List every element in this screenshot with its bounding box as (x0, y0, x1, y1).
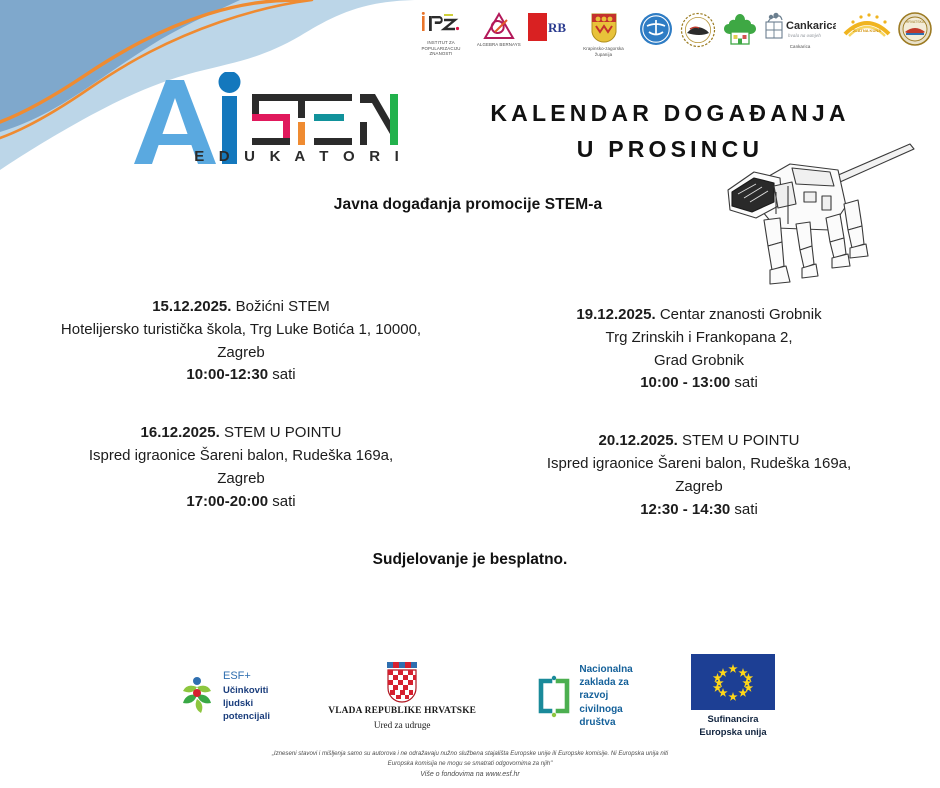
partner-logo-blue-circle (639, 12, 673, 70)
nzrcd-caption: Nacionalna zaklada za razvoj civilnoga d… (579, 663, 632, 729)
esf-line2: ljudski (223, 698, 253, 709)
event-address-line2: Zagreb (44, 342, 438, 365)
esf-line1: Učinkoviti (223, 685, 268, 696)
event-address-line1: Trg Zrinskih i Frankopana 2, (502, 327, 896, 350)
partner-logo-strip: INSTITUT ZA POPULARIZACIJU ZNANOSTI ALGE… (412, 12, 932, 70)
event-time-suffix: sati (730, 374, 758, 391)
eu-line2: Europska unija (699, 726, 766, 737)
eu-disclaimer: „Izneseni stavovi i mišljenja samo su au… (0, 749, 940, 780)
free-participation-note: Sudjelovanje je besplatno. (0, 551, 940, 569)
green-tree-icon (723, 12, 757, 46)
event-time-line: 10:00-12:30 sati (44, 364, 438, 387)
funding-logo-eu: Sufinancira Europska unija (691, 654, 775, 738)
event-address-line1: Ispred igraonice Šareni balon, Rudeška 1… (44, 445, 438, 468)
funding-logo-esf: ESF+ Učinkoviti ljudski potencijali (175, 669, 270, 724)
partner-logo-rb: RB (528, 12, 568, 70)
event-date: 16.12.2025. (141, 424, 220, 441)
events-column-right: 19.12.2025. Centar znanosti Grobnik Trg … (470, 296, 940, 521)
nzrcd-line1: Nacionalna (579, 664, 632, 675)
zlatna-kuna-arc-icon: ZLATNA KUNA (843, 12, 891, 40)
svg-text:hvala na osmjeh: hvala na osmjeh (788, 34, 821, 39)
event-address-line1: Ispred igraonice Šareni balon, Rudeška 1… (502, 453, 896, 476)
event-date-title: 15.12.2025. Božićni STEM (44, 296, 438, 319)
event-time: 12:30 - 14:30 (640, 501, 730, 518)
krapinsko-zagorska-shield-icon (590, 12, 618, 44)
disclaimer-line3: Više o fondovima na www.esf.hr (0, 769, 940, 780)
event-title: Centar znanosti Grobnik (656, 306, 822, 323)
eu-line1: Sufinancira (707, 713, 758, 724)
event-time-line: 17:00-20:00 sati (44, 491, 438, 514)
krapinsko-zagorska-caption: Krapinsko-zagorska županija (575, 46, 633, 57)
partner-logo-zlatna-kuna: ZLATNA KUNA (843, 12, 891, 70)
robot-dog-illustration (718, 142, 918, 290)
event-date-title: 16.12.2025. STEM U POINTU (44, 422, 438, 445)
vlada-caption: VLADA REPUBLIKE HRVATSKE Ured za udruge (328, 704, 476, 731)
nzrcd-line3: razvoj (579, 690, 608, 701)
partner-logo-krapinsko-zagorska: Krapinsko-zagorska županija (575, 12, 633, 70)
partner-logo-green-tree (723, 12, 757, 70)
cankarica-icon: Cankarica hvala na osmjeh (764, 12, 836, 42)
round-gold-seal-icon: HRVATSKA (898, 12, 932, 46)
funding-logo-vlada: VLADA REPUBLIKE HRVATSKE Ured za udruge (328, 660, 476, 731)
svg-text:RB: RB (548, 20, 566, 35)
partner-logo-ipz: INSTITUT ZA POPULARIZACIJU ZNANOSTI (412, 12, 470, 70)
croatian-coat-of-arms-icon (383, 660, 421, 704)
partner-logo-algebra-bernays: ALGEBRA BERNAYS (477, 12, 521, 70)
events-column-left: 15.12.2025. Božićni STEM Hotelijersko tu… (0, 296, 470, 521)
event-date-title: 20.12.2025. STEM U POINTU (502, 430, 896, 453)
partner-logo-cankarica: Cankarica hvala na osmjeh Cankarica (764, 12, 836, 70)
svg-text:Cankarica: Cankarica (786, 20, 836, 32)
blue-circle-bird-icon (639, 12, 673, 46)
funding-logo-nzrcd: Nacionalna zaklada za razvoj civilnoga d… (534, 663, 632, 729)
esf-caption: ESF+ Učinkoviti ljudski potencijali (223, 669, 270, 724)
eu-caption: Sufinancira Europska unija (699, 713, 766, 738)
event-date-title: 19.12.2025. Centar znanosti Grobnik (502, 304, 896, 327)
event-time-line: 10:00 - 13:00 sati (502, 372, 896, 395)
event-time: 10:00 - 13:00 (640, 374, 730, 391)
section-subtitle: Javna događanja promocije STEM-a (0, 196, 940, 214)
event-address-line2: Zagreb (44, 468, 438, 491)
ipz-icon (419, 12, 463, 38)
nzrcd-line4: civilnoga (579, 704, 622, 715)
events-grid: 15.12.2025. Božićni STEM Hotelijersko tu… (0, 296, 940, 521)
nzrcd-line2: zaklada za (579, 677, 628, 688)
event-time-suffix: sati (268, 493, 296, 510)
event-title: Božićni STEM (231, 298, 329, 315)
osnovna-skola-seal-icon (680, 12, 716, 48)
event-date: 15.12.2025. (152, 298, 231, 315)
funding-logo-row: ESF+ Učinkoviti ljudski potencijali (175, 650, 775, 742)
event-card: 20.12.2025. STEM U POINTU Ispred igraoni… (502, 430, 896, 521)
nzrcd-line5: društva (579, 717, 615, 728)
event-date: 19.12.2025. (576, 306, 655, 323)
section-subtitle-text: Javna događanja promocije STEM-a (334, 196, 603, 214)
event-address-line1: Hotelijersko turistička škola, Trg Luke … (44, 319, 438, 342)
disclaimer-line2: Europska komisija ne mogu se smatrati od… (0, 759, 940, 769)
esf-top-label: ESF+ (223, 669, 270, 684)
svg-text:ZLATNA KUNA: ZLATNA KUNA (853, 28, 881, 33)
brand-tagline: E D U K A T O R I (128, 148, 406, 165)
rb-red-blue-icon: RB (528, 12, 568, 42)
vlada-line1: VLADA REPUBLIKE HRVATSKE (328, 706, 476, 716)
event-card: 16.12.2025. STEM U POINTU Ispred igraoni… (44, 422, 438, 513)
vlada-line2: Ured za udruge (374, 720, 431, 730)
esf-flower-icon (175, 673, 219, 719)
algebra-bernays-caption: ALGEBRA BERNAYS (477, 42, 521, 48)
event-time-suffix: sati (730, 501, 758, 518)
event-time-line: 12:30 - 14:30 sati (502, 499, 896, 522)
event-address-line2: Grad Grobnik (502, 350, 896, 373)
event-title: STEM U POINTU (220, 424, 342, 441)
ipz-caption: INSTITUT ZA POPULARIZACIJU ZNANOSTI (412, 40, 470, 57)
poster-canvas: INSTITUT ZA POPULARIZACIJU ZNANOSTI ALGE… (0, 0, 940, 788)
event-time-suffix: sati (268, 366, 296, 383)
event-title: STEM U POINTU (678, 432, 800, 449)
nzrcd-brackets-icon (534, 671, 574, 721)
cankarica-caption: Cankarica (790, 44, 811, 50)
event-time: 17:00-20:00 (186, 493, 268, 510)
esf-line3: potencijali (223, 711, 270, 722)
eu-flag-icon (691, 654, 775, 710)
svg-text:HRVATSKA: HRVATSKA (906, 20, 925, 24)
event-time: 10:00-12:30 (186, 366, 268, 383)
event-date: 20.12.2025. (599, 432, 678, 449)
algebra-bernays-icon (481, 12, 517, 40)
event-address-line2: Zagreb (502, 476, 896, 499)
disclaimer-line1: „Izneseni stavovi i mišljenja samo su au… (0, 749, 940, 759)
event-card: 15.12.2025. Božićni STEM Hotelijersko tu… (44, 296, 438, 387)
page-title-line1: KALENDAR DOGAĐANJA (490, 100, 849, 126)
partner-logo-gold-seal: HRVATSKA (898, 12, 932, 70)
event-card: 19.12.2025. Centar znanosti Grobnik Trg … (502, 304, 896, 395)
partner-logo-osnovna-skola (680, 12, 716, 70)
